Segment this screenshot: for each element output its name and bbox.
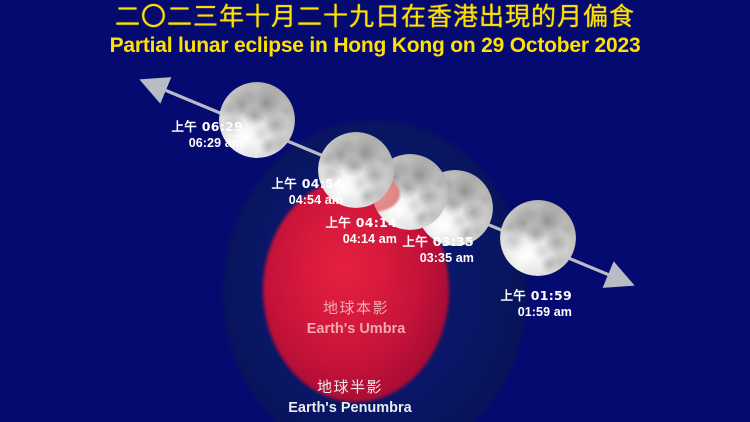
title-block: 二〇二三年十月二十九日在香港出現的月偏食 Partial lunar eclip… [0, 2, 750, 59]
time-label-zh: 上午 03:35 [402, 234, 474, 250]
moon-0159 [500, 200, 576, 276]
umbra-label-en: Earth's Umbra [0, 319, 731, 339]
moon-disc [500, 200, 576, 276]
time-label-0414am: 上午 04:1404:14 am [325, 215, 397, 247]
time-label-zh: 上午 04:54 [271, 176, 343, 192]
penumbra-label-zh: 地球半影 [0, 377, 725, 398]
time-label-en: 04:14 am [325, 231, 397, 247]
time-label-zh: 上午 04:14 [325, 215, 397, 231]
penumbra-label: 地球半影 Earth's Penumbra [0, 377, 725, 418]
penumbra-label-en: Earth's Penumbra [0, 398, 725, 418]
time-label-zh: 上午 06:29 [171, 119, 243, 135]
umbra-label-zh: 地球本影 [0, 298, 731, 319]
time-label-0454am: 上午 04:5404:54 am [271, 176, 343, 208]
page-title-en: Partial lunar eclipse in Hong Kong on 29… [0, 33, 750, 59]
eclipse-infographic: 上午 06:2906:29 am上午 04:5404:54 am上午 04:14… [0, 0, 750, 422]
time-label-en: 03:35 am [402, 250, 474, 266]
time-label-0335am: 上午 03:3503:35 am [402, 234, 474, 266]
page-title-zh: 二〇二三年十月二十九日在香港出現的月偏食 [0, 2, 750, 32]
time-label-0629am: 上午 06:2906:29 am [171, 119, 243, 151]
time-label-en: 04:54 am [271, 192, 343, 208]
time-label-en: 06:29 am [171, 135, 243, 151]
umbra-label: 地球本影 Earth's Umbra [0, 298, 731, 339]
